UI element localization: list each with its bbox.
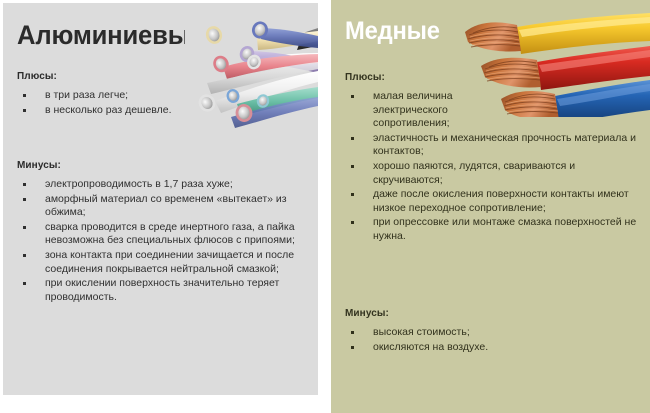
section-cons-aluminium: Минусы: электропроводимость в 1,7 раза х… (17, 160, 313, 305)
list-item-text: электропроводимость в 1,7 раза хуже; (45, 178, 233, 190)
bullet-dot-icon (23, 109, 26, 112)
list-item: хорошо паяются, лудятся, свариваются и с… (345, 160, 641, 187)
bullet-dot-icon (23, 254, 26, 257)
bullet-dot-icon (23, 282, 26, 285)
list-item-text: при окислении поверхность значительно те… (45, 277, 279, 303)
bullet-dot-icon (351, 193, 354, 196)
cons-list-copper: высокая стоимость; окисляются на воздухе… (345, 326, 641, 354)
list-item: в три раза легче; (17, 89, 307, 103)
list-item: при окислении поверхность значительно те… (17, 277, 313, 304)
list-item: окисляются на воздухе. (345, 341, 641, 355)
list-item-text: высокая стоимость; (373, 326, 470, 338)
list-item: аморфный материал со временем «вытекает»… (17, 193, 313, 220)
list-item-text: при опрессовке или монтаже смазка поверх… (373, 216, 636, 242)
list-item: сварка проводится в среде инертного газа… (17, 221, 313, 248)
list-item: малая величина электрического сопротивле… (345, 90, 523, 131)
cons-list-aluminium: электропроводимость в 1,7 раза хуже; амо… (17, 178, 313, 304)
comparison-slide: Алюминиевые (0, 0, 650, 413)
list-item: эластичность и механическая прочность ма… (345, 132, 641, 159)
bullet-dot-icon (23, 226, 26, 229)
section-pros-aluminium: Плюсы: в три раза легче; в несколько раз… (17, 71, 307, 118)
list-item: в несколько раз дешевле. (17, 104, 307, 118)
list-item: зона контакта при соединении зачищается … (17, 249, 313, 276)
bullet-dot-icon (351, 346, 354, 349)
bullet-dot-icon (351, 165, 354, 168)
section-pros-copper: Плюсы: малая величина электрического соп… (345, 72, 641, 245)
section-label-cons: Минусы: (17, 160, 313, 171)
panel-copper: Медные (331, 0, 650, 413)
pros-list-aluminium: в три раза легче; в несколько раз дешевл… (17, 89, 307, 117)
list-item: при опрессовке или монтаже смазка поверх… (345, 216, 641, 243)
list-item: даже после окисления поверхности контакт… (345, 188, 641, 215)
list-item: высокая стоимость; (345, 326, 523, 340)
list-item-text: в несколько раз дешевле. (45, 104, 172, 116)
list-item-text: зона контакта при соединении зачищается … (45, 249, 294, 275)
list-item-text: сварка проводится в среде инертного газа… (45, 221, 295, 247)
section-label-pros: Плюсы: (17, 71, 307, 82)
bullet-dot-icon (351, 221, 354, 224)
bullet-dot-icon (23, 183, 26, 186)
list-item-text: даже после окисления поверхности контакт… (373, 188, 629, 214)
section-label-cons: Минусы: (345, 308, 641, 319)
bullet-dot-icon (351, 137, 354, 140)
list-item: электропроводимость в 1,7 раза хуже; (17, 178, 313, 192)
list-item-text: в три раза легче; (45, 89, 128, 101)
section-label-pros: Плюсы: (345, 72, 641, 83)
panel-aluminium: Алюминиевые (3, 3, 318, 395)
panel-title-copper: Медные (345, 19, 440, 44)
section-cons-copper: Минусы: высокая стоимость; окисляются на… (345, 308, 641, 355)
panel-title-aluminium: Алюминиевые (17, 22, 204, 49)
list-item-text: хорошо паяются, лудятся, свариваются и с… (373, 160, 575, 186)
list-item-text: эластичность и механическая прочность ма… (373, 132, 636, 158)
list-item-text: аморфный материал со временем «вытекает»… (45, 193, 287, 219)
list-item-text: малая величина электрического сопротивле… (373, 90, 453, 129)
bullet-dot-icon (23, 198, 26, 201)
list-item-text: окисляются на воздухе. (373, 341, 488, 353)
pros-list-copper: малая величина электрического сопротивле… (345, 90, 641, 244)
bullet-dot-icon (23, 94, 26, 97)
bullet-dot-icon (351, 331, 354, 334)
bullet-dot-icon (351, 95, 354, 98)
